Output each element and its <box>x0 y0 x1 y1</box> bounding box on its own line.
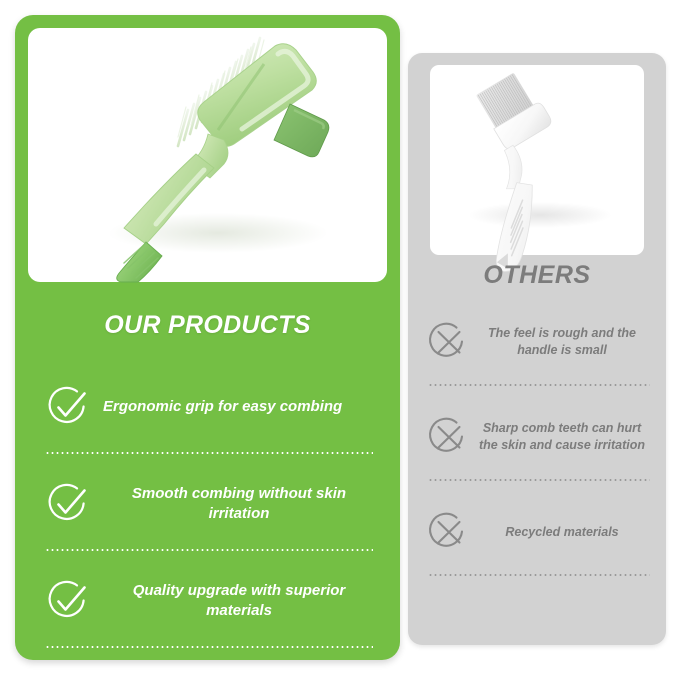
list-item-label: The feel is rough and the handle is smal… <box>476 325 650 359</box>
list-item: The feel is rough and the handle is smal… <box>426 303 650 398</box>
list-item-label: Sharp comb teeth can hurt the skin and c… <box>476 420 650 454</box>
our-products-title: OUR PRODUCTS <box>15 311 400 340</box>
others-panel: OTHERS The feel is rough and the handle … <box>408 53 666 645</box>
list-item: Sharp comb teeth can hurt the skin and c… <box>426 398 650 493</box>
divider <box>45 646 373 648</box>
check-circle-icon <box>45 384 91 430</box>
list-item-label: Smooth combing without skin irritation <box>103 484 375 525</box>
x-circle-icon <box>426 510 470 554</box>
divider <box>45 549 373 551</box>
x-circle-icon <box>426 415 470 459</box>
x-circle-icon <box>426 320 470 364</box>
divider <box>428 574 650 576</box>
check-circle-icon <box>45 578 91 624</box>
divider <box>428 479 650 481</box>
list-item: Smooth combing without skin irritation <box>45 464 375 561</box>
others-list: The feel is rough and the handle is smal… <box>426 303 650 588</box>
divider <box>428 384 650 386</box>
our-products-list: Ergonomic grip for easy combing Smooth c… <box>45 367 375 658</box>
white-flea-comb-image <box>430 65 644 255</box>
green-pet-brush-image <box>28 28 387 282</box>
check-circle-icon <box>45 481 91 527</box>
list-item-label: Quality upgrade with superior materials <box>103 581 375 622</box>
others-title: OTHERS <box>408 261 666 290</box>
list-item: Ergonomic grip for easy combing <box>45 367 375 464</box>
comparison-infographic: OTHERS The feel is rough and the handle … <box>0 0 679 679</box>
list-item-label: Recycled materials <box>476 524 650 541</box>
list-item-label: Ergonomic grip for easy combing <box>103 397 375 417</box>
list-item: Quality upgrade with superior materials <box>45 561 375 658</box>
divider <box>45 452 373 454</box>
others-product-photo-card <box>430 65 644 255</box>
our-products-panel: OUR PRODUCTS Ergonomic grip for easy com… <box>15 15 400 660</box>
list-item: Recycled materials <box>426 493 650 588</box>
our-product-photo-card <box>28 28 387 282</box>
